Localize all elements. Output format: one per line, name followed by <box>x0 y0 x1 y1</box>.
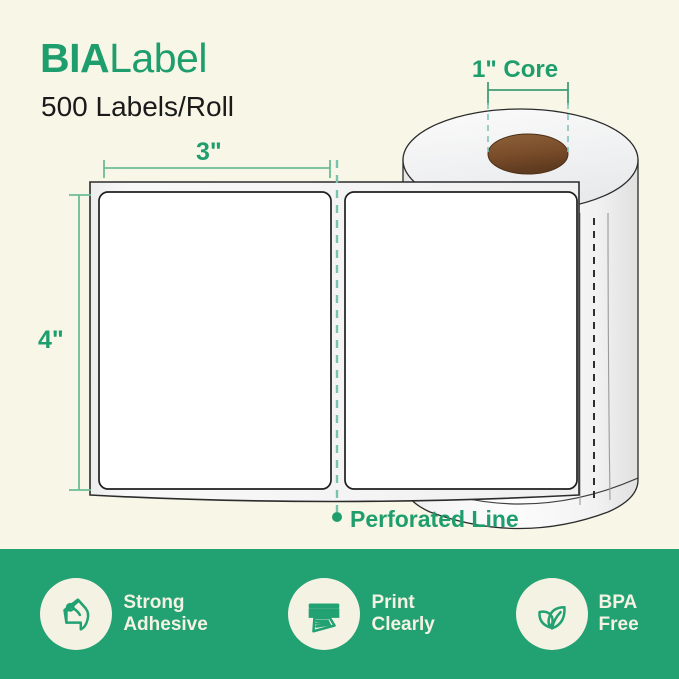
product-illustration: 3" 4" 1" Core Perforated Line <box>0 0 679 549</box>
feature-line2-2: Clearly <box>371 614 434 636</box>
feature-label-3: BPA Free <box>599 592 639 637</box>
feature-badge-2 <box>288 578 360 650</box>
feature-bpa-free: BPA Free <box>516 578 639 650</box>
perforation-callout-dot <box>332 512 342 522</box>
feature-line2-3: Free <box>599 614 639 636</box>
leaves-icon <box>529 591 575 637</box>
label-face-right <box>345 192 577 489</box>
core-hole <box>488 134 568 174</box>
feature-banner: Strong Adhesive Print Clearly <box>0 549 679 679</box>
feature-line1-2: Print <box>371 592 434 614</box>
product-infographic: BIALabel 500 Labels/Roll <box>0 0 679 679</box>
feature-strong-adhesive: Strong Adhesive <box>40 578 207 650</box>
feature-line1-1: Strong <box>123 592 207 614</box>
height-dimension-label: 4" <box>38 326 64 355</box>
feature-badge-1 <box>40 578 112 650</box>
label-face-left <box>99 192 331 489</box>
feature-line1-3: BPA <box>599 592 639 614</box>
label-sheet-graphic <box>90 160 579 512</box>
perforation-label: Perforated Line <box>350 506 519 533</box>
feature-print-clearly: Print Clearly <box>288 578 434 650</box>
feature-badge-3 <box>516 578 588 650</box>
feature-line2-1: Adhesive <box>123 614 207 636</box>
core-dimension-label: 1" Core <box>472 56 558 84</box>
feature-label-1: Strong Adhesive <box>123 592 207 637</box>
feature-label-2: Print Clearly <box>371 592 434 637</box>
glue-bottle-icon <box>53 591 99 637</box>
width-dimension-label: 3" <box>196 138 222 167</box>
printer-icon <box>301 591 347 637</box>
height-dimension-line <box>69 195 91 490</box>
